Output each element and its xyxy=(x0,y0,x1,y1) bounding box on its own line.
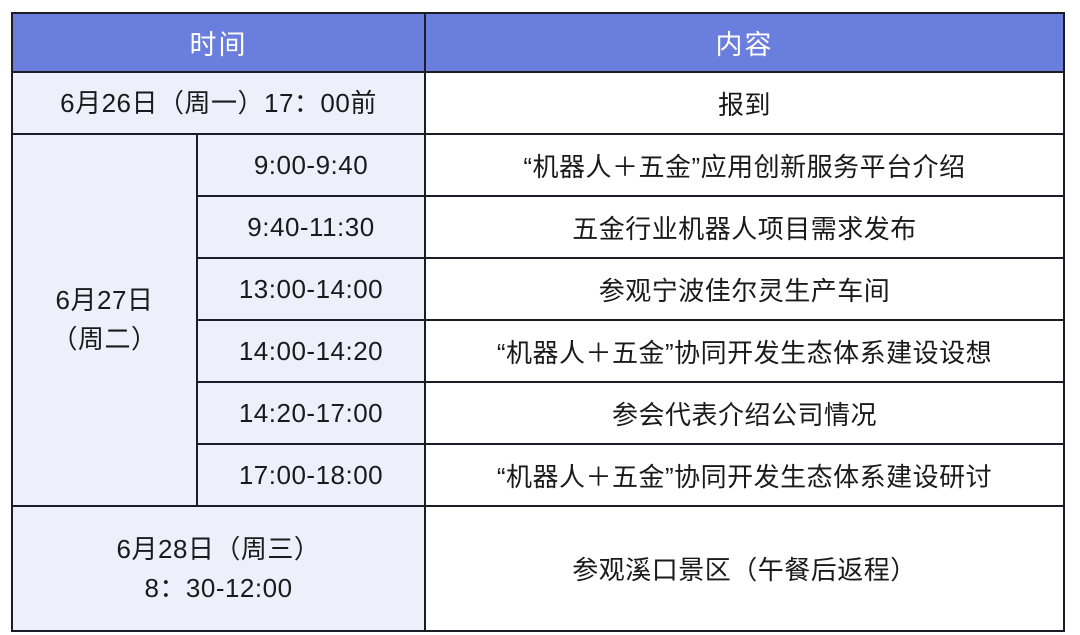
schedule-sheet: 时间 内容 6月26日（周一）17：00前 报到 6月27日 （周二） 9:00… xyxy=(0,0,1080,635)
column-header-time: 时间 xyxy=(12,13,425,72)
cell-content: “机器人＋五金”协同开发生态体系建设研讨 xyxy=(425,444,1064,506)
cell-content: 参观宁波佳尔灵生产车间 xyxy=(425,258,1064,320)
cell-content: “机器人＋五金”应用创新服务平台介绍 xyxy=(425,134,1064,196)
cell-time-slot: 9:00-9:40 xyxy=(197,134,425,196)
cell-content: “机器人＋五金”协同开发生态体系建设设想 xyxy=(425,320,1064,382)
cell-content: 参会代表介绍公司情况 xyxy=(425,382,1064,444)
cell-time-slot: 17:00-18:00 xyxy=(197,444,425,506)
cell-time-slot: 13:00-14:00 xyxy=(197,258,425,320)
date-day2-line1: 6月27日 xyxy=(19,281,190,320)
cell-time-slot: 9:40-11:30 xyxy=(197,196,425,258)
schedule-table: 时间 内容 6月26日（周一）17：00前 报到 6月27日 （周二） 9:00… xyxy=(11,12,1065,632)
cell-content: 五金行业机器人项目需求发布 xyxy=(425,196,1064,258)
cell-time-slot: 14:20-17:00 xyxy=(197,382,425,444)
cell-date-day1: 6月26日（周一）17：00前 xyxy=(12,72,425,134)
cell-content-day3: 参观溪口景区（午餐后返程） xyxy=(425,506,1064,631)
date-day3-line1: 6月28日（周三） xyxy=(19,530,418,569)
date-day2-line2: （周二） xyxy=(19,320,190,359)
cell-time-slot: 14:00-14:20 xyxy=(197,320,425,382)
cell-content-day1: 报到 xyxy=(425,72,1064,134)
table-row: 6月28日（周三） 8：30-12:00 参观溪口景区（午餐后返程） xyxy=(12,506,1064,631)
cell-date-day3: 6月28日（周三） 8：30-12:00 xyxy=(12,506,425,631)
cell-date-day2: 6月27日 （周二） xyxy=(12,134,197,506)
table-row: 6月27日 （周二） 9:00-9:40 “机器人＋五金”应用创新服务平台介绍 xyxy=(12,134,1064,196)
column-header-content: 内容 xyxy=(425,13,1064,72)
table-header-row: 时间 内容 xyxy=(12,13,1064,72)
table-row: 6月26日（周一）17：00前 报到 xyxy=(12,72,1064,134)
date-day3-line2: 8：30-12:00 xyxy=(19,569,418,608)
